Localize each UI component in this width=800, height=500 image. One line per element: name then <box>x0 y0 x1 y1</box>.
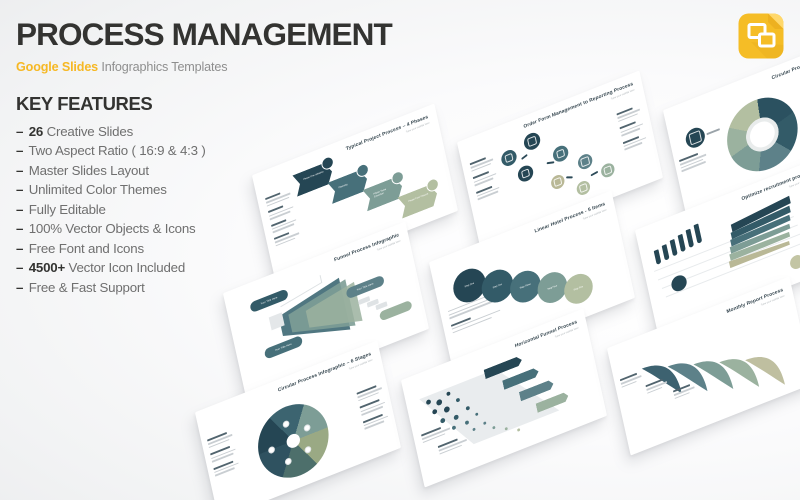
feature-dash: – <box>16 182 23 197</box>
feature-item: – Two Aspect Ratio ( 16:9 & 4:3 ) <box>16 141 286 160</box>
slide-title: Order Form Management to Reporting Proce… <box>523 81 634 130</box>
donut-chart <box>720 87 800 183</box>
google-slides-icon <box>737 12 785 60</box>
flow-node-5 <box>577 152 594 171</box>
feature-dash: – <box>16 221 23 236</box>
feature-dash: – <box>16 202 23 217</box>
slide-title: Typical Project Process – 4 Phases <box>335 114 429 156</box>
slide-subtitle: Type your subtitle here <box>524 88 634 134</box>
flow-node-3 <box>516 163 534 184</box>
flow-node-1 <box>500 148 518 169</box>
flow-node-8 <box>600 161 616 179</box>
page-title: PROCESS MANAGEMENT <box>16 18 286 51</box>
feature-dash: – <box>16 241 23 256</box>
right-text-block <box>357 383 389 429</box>
feature-item: – Unlimited Color Themes <box>16 180 286 199</box>
flow-node-6 <box>550 173 566 191</box>
intro-panel: PROCESS MANAGEMENT Google Slides Infogra… <box>16 18 286 297</box>
feature-emphasis: 4500+ <box>25 260 65 275</box>
poster-canvas: Typical Project Process – 4 Phases Type … <box>0 0 800 500</box>
feature-dash: – <box>16 260 23 275</box>
left-text-block <box>679 150 708 172</box>
brand-name: Google Slides <box>16 60 98 74</box>
subtitle-rest: Infographics Templates <box>98 60 227 74</box>
feature-item: – 100% Vector Objects & Icons <box>16 219 286 238</box>
feature-emphasis: 26 <box>25 124 43 139</box>
left-text-block <box>470 155 500 201</box>
feature-dash: – <box>16 163 23 178</box>
pie-chart-6-stages <box>251 393 335 489</box>
features-list: – 26 Creative Slides– Two Aspect Ratio (… <box>16 122 286 297</box>
feature-dash: – <box>16 143 23 158</box>
feature-item: – Fully Editable <box>16 200 286 219</box>
feature-dash: – <box>16 280 23 295</box>
hub-node <box>684 125 707 151</box>
feature-item: – Free & Fast Support <box>16 278 286 297</box>
left-text-block <box>207 430 239 476</box>
feature-item: – Master Slides Layout <box>16 161 286 180</box>
feature-dash: – <box>16 124 23 139</box>
linear-circle-5: Step Five <box>561 269 595 308</box>
features-heading: KEY FEATURES <box>16 93 286 115</box>
slide-subtitle: Type your subtitle here <box>336 121 430 161</box>
page-subtitle: Google Slides Infographics Templates <box>16 60 286 74</box>
feature-item: – 26 Creative Slides <box>16 122 286 141</box>
feature-item: – Free Font and Icons <box>16 239 286 258</box>
flow-node-7 <box>575 179 591 197</box>
feature-item: – 4500+ Vector Icon Included <box>16 258 286 277</box>
right-text-block <box>616 105 646 151</box>
